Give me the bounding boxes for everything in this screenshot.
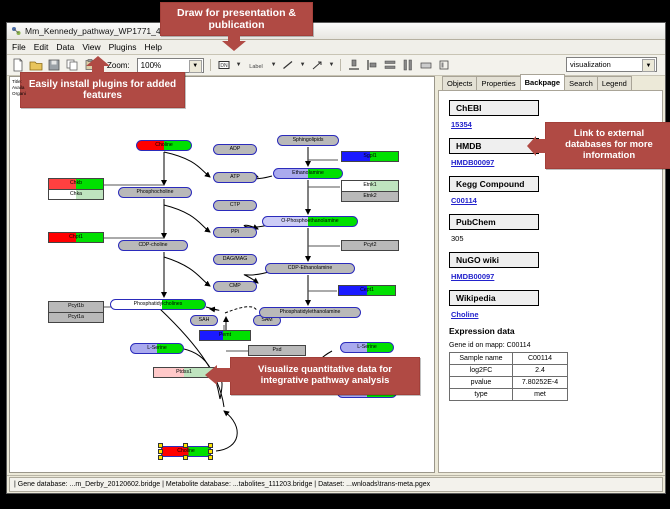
node-etnk2[interactable]: Etnk2 bbox=[341, 191, 399, 202]
visualization-select[interactable]: visualization ▼ bbox=[566, 57, 657, 72]
node-etnk1[interactable]: Etnk1 bbox=[341, 180, 399, 191]
chevron-down-icon[interactable]: ▼ bbox=[300, 62, 306, 68]
node-label: Sphingolipids bbox=[293, 138, 324, 143]
callout-draw-arrow bbox=[222, 33, 246, 51]
node-label: Chpt1 bbox=[69, 235, 83, 240]
node-label: Cept1 bbox=[360, 288, 374, 293]
node-label: Phosphocholine bbox=[137, 190, 174, 195]
node-label: O-Phosphoethanolamine bbox=[281, 219, 338, 224]
group-icon[interactable] bbox=[419, 58, 433, 72]
db-header: ChEBI bbox=[449, 100, 539, 116]
callout-links-arrow bbox=[527, 136, 546, 156]
node-adp[interactable]: ADP bbox=[213, 144, 257, 155]
toolbar-separator bbox=[210, 59, 211, 71]
menu-item-data[interactable]: Data bbox=[56, 42, 74, 52]
app-icon bbox=[11, 26, 21, 36]
node-label: L-Serine bbox=[357, 345, 377, 350]
node-sgpl1[interactable]: Sgpl1 bbox=[341, 151, 399, 162]
table-row: type met bbox=[450, 389, 568, 401]
callout-links: Link to external databases for more info… bbox=[545, 122, 670, 169]
node-label: Sgpl1 bbox=[363, 154, 376, 159]
expr-value: 2.4 bbox=[513, 365, 568, 377]
title-bar: Mm_Kennedy_pathway_WP1771_45176.gpml bbox=[7, 23, 665, 40]
db-entry-kegg: Kegg Compound C00114 bbox=[449, 174, 662, 205]
node-label: ADP bbox=[230, 147, 241, 152]
zoom-label: Zoom: bbox=[107, 61, 130, 70]
node-label: SAM bbox=[261, 318, 272, 323]
db-header: NuGO wiki bbox=[449, 252, 539, 268]
node-chka[interactable]: Chka bbox=[48, 189, 104, 200]
node-label: Ethanolamine bbox=[292, 171, 324, 176]
resize-handle[interactable] bbox=[158, 443, 163, 448]
node-label: Choline bbox=[177, 449, 195, 454]
info-line-organism: Organi bbox=[12, 91, 26, 97]
node-dagmag[interactable]: DAG/MAG bbox=[213, 254, 257, 265]
node-label: Psd bbox=[273, 348, 282, 353]
node-label: PPi bbox=[231, 230, 239, 235]
callout-visualize: Visualize quantitative data for integrat… bbox=[230, 357, 420, 395]
node-label: Ptdss1 bbox=[176, 370, 192, 375]
db-link-nugo[interactable]: HMDB00097 bbox=[451, 272, 662, 281]
tab-search[interactable]: Search bbox=[564, 76, 598, 90]
callout-draw-text: Draw for presentation & publication bbox=[165, 7, 308, 31]
node-sah[interactable]: SAH bbox=[190, 315, 218, 326]
node-pemt[interactable]: Pemt bbox=[199, 330, 251, 341]
resize-handle[interactable] bbox=[208, 455, 213, 460]
node-label: Phosphatidylcholines bbox=[134, 302, 183, 307]
toolbar-separator bbox=[340, 59, 341, 71]
chevron-down-icon[interactable]: ▼ bbox=[236, 62, 242, 68]
status-bar: | Gene database: ...m_Derby_20120602.bri… bbox=[7, 475, 665, 493]
pathway-canvas[interactable]: Title: Availa Organi bbox=[9, 76, 435, 473]
menu-item-edit[interactable]: Edit bbox=[34, 42, 49, 52]
node-label: CDP-choline bbox=[138, 243, 167, 248]
tab-properties[interactable]: Properties bbox=[476, 76, 520, 90]
table-row: pvalue 7.80252E-4 bbox=[450, 377, 568, 389]
db-header: Kegg Compound bbox=[449, 176, 539, 192]
db-header: PubChem bbox=[449, 214, 539, 230]
svg-text:DN: DN bbox=[220, 63, 228, 69]
zoom-value: 100% bbox=[141, 61, 161, 70]
node-ctp[interactable]: CTP bbox=[213, 200, 257, 211]
node-pcyt2[interactable]: Pcyt2 bbox=[341, 240, 399, 251]
node-pcyt1b[interactable]: Pcyt1b bbox=[48, 301, 104, 312]
svg-text:Label: Label bbox=[249, 64, 262, 70]
node-label: Pemt bbox=[219, 333, 231, 338]
db-entry-wikipedia: Wikipedia Choline bbox=[449, 288, 662, 319]
node-psd[interactable]: Psd bbox=[248, 345, 306, 356]
callout-visualize-arrow bbox=[205, 365, 231, 385]
callout-plugins: Easily install plugins for added feature… bbox=[20, 72, 185, 108]
chevron-down-icon[interactable]: ▼ bbox=[271, 62, 277, 68]
callout-draw: Draw for presentation & publication bbox=[160, 2, 313, 36]
resize-handle[interactable] bbox=[158, 455, 163, 460]
selected-node-group[interactable]: Choline bbox=[158, 443, 214, 459]
visualization-value: visualization bbox=[570, 60, 611, 69]
resize-handle[interactable] bbox=[208, 443, 213, 448]
node-label: L-Serine bbox=[147, 346, 167, 351]
db-entry-nugo: NuGO wiki HMDB00097 bbox=[449, 250, 662, 281]
save-icon[interactable] bbox=[47, 58, 61, 72]
node-choline-top[interactable]: Choline bbox=[136, 140, 192, 151]
expression-table: Sample name C00114 log2FC 2.4 pvalue 7.8… bbox=[449, 352, 568, 401]
menu-item-plugins[interactable]: Plugins bbox=[109, 42, 137, 52]
node-label: Pcyt2 bbox=[364, 243, 377, 248]
menu-item-view[interactable]: View bbox=[82, 42, 100, 52]
resize-handle[interactable] bbox=[183, 455, 188, 460]
node-label: ATP bbox=[230, 175, 240, 180]
db-header: HMDB bbox=[449, 138, 539, 154]
db-header: Wikipedia bbox=[449, 290, 539, 306]
expr-value: C00114 bbox=[513, 353, 568, 365]
status-text: | Gene database: ...m_Derby_20120602.bri… bbox=[9, 477, 663, 492]
line-icon[interactable] bbox=[281, 58, 295, 72]
db-link-kegg[interactable]: C00114 bbox=[451, 196, 662, 205]
tab-backpage[interactable]: Backpage bbox=[520, 74, 565, 90]
node-label: CTP bbox=[230, 203, 240, 208]
node-label: CDP-Ethanolamine bbox=[288, 266, 332, 271]
zoom-select[interactable]: 100% ▼ bbox=[137, 58, 204, 73]
node-label: Pcyt1a bbox=[68, 315, 84, 320]
expr-key: type bbox=[450, 389, 513, 401]
node-phosphatidylcholines[interactable]: Phosphatidylcholines bbox=[110, 299, 206, 310]
expression-data-heading: Expression data bbox=[449, 326, 662, 336]
node-label: SAH bbox=[199, 318, 210, 323]
new-icon[interactable] bbox=[11, 58, 25, 72]
resize-handle[interactable] bbox=[158, 449, 163, 454]
tab-objects[interactable]: Objects bbox=[442, 76, 477, 90]
node-o-phosphoethanolamine[interactable]: O-Phosphoethanolamine bbox=[262, 216, 358, 227]
align-bottom-icon[interactable] bbox=[347, 58, 361, 72]
node-cdp-choline[interactable]: CDP-choline bbox=[118, 240, 188, 251]
node-label: Phosphatidylethanolamine bbox=[280, 310, 341, 315]
node-label: CMP bbox=[229, 284, 241, 289]
db-link-wikipedia[interactable]: Choline bbox=[451, 310, 662, 319]
node-sphingolipids[interactable]: Sphingolipids bbox=[277, 135, 339, 146]
label-icon[interactable]: Label bbox=[246, 58, 266, 72]
node-phosphatidylethanolamine[interactable]: Phosphatidylethanolamine bbox=[259, 307, 361, 318]
node-cept1[interactable]: Cept1 bbox=[338, 285, 396, 296]
table-row: log2FC 2.4 bbox=[450, 365, 568, 377]
chevron-down-icon[interactable]: ▼ bbox=[642, 59, 655, 72]
align-left-icon[interactable] bbox=[365, 58, 379, 72]
screenshot-root: Mm_Kennedy_pathway_WP1771_45176.gpml Fil… bbox=[0, 0, 670, 509]
gene-id-label: Gene id on mapp: C00114 bbox=[449, 342, 662, 349]
anchor-icon[interactable] bbox=[310, 58, 324, 72]
node-label: Etnk1 bbox=[363, 183, 376, 188]
expr-value: met bbox=[513, 389, 568, 401]
distribute-vertical-icon[interactable] bbox=[383, 58, 397, 72]
expr-key: log2FC bbox=[450, 365, 513, 377]
node-label: Etnk2 bbox=[363, 194, 376, 199]
menu-item-help[interactable]: Help bbox=[145, 42, 162, 52]
resize-handle[interactable] bbox=[183, 443, 188, 448]
callout-plugins-text: Easily install plugins for added feature… bbox=[25, 79, 180, 102]
node-label: Chkb bbox=[70, 181, 82, 186]
tab-row: Objects Properties Backpage Search Legen… bbox=[438, 76, 663, 90]
node-phosphocholine[interactable]: Phosphocholine bbox=[118, 187, 192, 198]
node-l-serine-left[interactable]: L-Serine bbox=[130, 343, 184, 354]
pathway-edges bbox=[10, 77, 434, 473]
datanode-icon[interactable]: DN bbox=[217, 58, 231, 72]
open-icon[interactable] bbox=[29, 58, 43, 72]
node-cdp-ethanolamine[interactable]: CDP-Ethanolamine bbox=[265, 263, 355, 274]
node-label: DAG/MAG bbox=[223, 257, 248, 262]
pathway-info-lines: Title: Availa Organi bbox=[12, 79, 26, 97]
expr-key: Sample name bbox=[450, 353, 513, 365]
expr-key: pvalue bbox=[450, 377, 513, 389]
node-label: Pcyt1b bbox=[68, 304, 84, 309]
tab-legend[interactable]: Legend bbox=[597, 76, 632, 90]
chevron-down-icon[interactable]: ▼ bbox=[329, 62, 335, 68]
node-ppi[interactable]: PPi bbox=[213, 227, 257, 238]
resize-handle[interactable] bbox=[208, 449, 213, 454]
expr-value: 7.80252E-4 bbox=[513, 377, 568, 389]
node-ethanolamine-top[interactable]: Ethanolamine bbox=[273, 168, 343, 179]
node-label: Chka bbox=[70, 192, 82, 197]
node-chkb[interactable]: Chkb bbox=[48, 178, 104, 189]
node-l-serine-right[interactable]: L-Serine bbox=[340, 342, 394, 353]
node-cmp[interactable]: CMP bbox=[213, 281, 257, 292]
node-label: Choline bbox=[155, 143, 173, 148]
menu-item-file[interactable]: File bbox=[12, 42, 26, 52]
stack-icon[interactable] bbox=[437, 58, 451, 72]
callout-plugins-arrow bbox=[86, 56, 110, 74]
callout-links-text: Link to external databases for more info… bbox=[550, 129, 668, 162]
callout-visualize-text: Visualize quantitative data for integrat… bbox=[235, 365, 415, 387]
node-pcyt1a[interactable]: Pcyt1a bbox=[48, 312, 104, 323]
table-row: Sample name C00114 bbox=[450, 353, 568, 365]
menu-bar: File Edit Data View Plugins Help bbox=[7, 40, 665, 55]
chevron-down-icon[interactable]: ▼ bbox=[189, 60, 202, 73]
distribute-horizontal-icon[interactable] bbox=[401, 58, 415, 72]
db-entry-pubchem: PubChem 305 bbox=[449, 212, 662, 243]
db-value-pubchem: 305 bbox=[451, 234, 662, 243]
node-chpt1[interactable]: Chpt1 bbox=[48, 232, 104, 243]
copy-icon[interactable] bbox=[65, 58, 79, 72]
node-atp[interactable]: ATP bbox=[213, 172, 257, 183]
